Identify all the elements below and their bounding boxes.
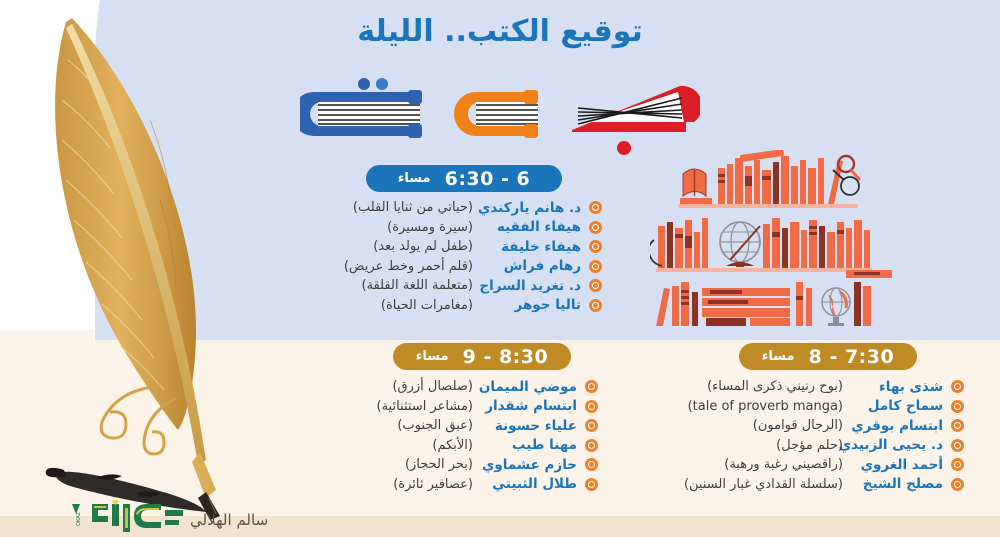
author-name: علياء حسونة <box>481 418 577 434</box>
list-item: رهام فراش (قلم أحمر وخط عريض) <box>344 257 602 277</box>
list-item: د. هانم ياركندي (حياتي من ثنايا القلب) <box>344 198 602 218</box>
designer-credit: سالم الهلالي <box>190 511 268 529</box>
book-title: (بحر الحجاز) <box>405 457 473 472</box>
book-title: (tale of proverb manga) <box>688 399 843 414</box>
author-name: أحمد الغروي <box>851 457 943 473</box>
author-name: شذى بهاء <box>851 379 943 395</box>
author-name: مصلح الشيخ <box>851 476 943 492</box>
author-name: د. هانم ياركندي <box>481 200 581 216</box>
list-item: طلال الثبيتي (عصافير ثائرة) <box>377 475 598 495</box>
author-name: د. يحيى الزبيدي <box>851 437 943 453</box>
list-item: د. يحيى الزبيدي (حلم مؤجل) <box>684 436 964 456</box>
author-name: مهنا طيب <box>481 437 577 453</box>
badge-period: مساء <box>416 349 449 364</box>
bullet-icon <box>585 419 598 432</box>
bullet-icon <box>951 400 964 413</box>
list-item: ابتسام شقدار (مشاعر استثنائية) <box>377 397 598 417</box>
bullet-icon <box>589 221 602 234</box>
list-item: هيفاء الفقيه (سيرة ومسيرة) <box>344 218 602 238</box>
time-badge-session-1: 6 - 6:30 مساء <box>366 165 562 192</box>
badge-time: 8:30 - 9 <box>463 346 549 368</box>
logo-sub-text: OKAZ <box>76 511 82 526</box>
infographic-root: توقيع الكتب.. الليلة <box>0 0 1000 537</box>
badge-period: مساء <box>398 171 431 186</box>
bullet-icon <box>951 419 964 432</box>
list-item: مصلح الشيخ (سلسلة القدادي غبار السنين) <box>684 475 964 495</box>
bullet-icon <box>585 478 598 491</box>
badge-time: 7:30 - 8 <box>809 346 895 368</box>
session-list-1: د. هانم ياركندي (حياتي من ثنايا القلب) ه… <box>344 198 602 315</box>
book-title: (راقصيني رغبة ورهبة) <box>724 457 843 472</box>
book-title: (عبق الجنوب) <box>397 418 473 433</box>
book-title: (الأبكم) <box>432 438 473 453</box>
time-badge-session-2: 8:30 - 9 مساء <box>393 343 571 370</box>
list-item: مهنا طيب (الأبكم) <box>377 436 598 456</box>
book-title: (حلم مؤجل) <box>776 438 843 453</box>
book-title: (صلصال أزرق) <box>392 379 473 394</box>
badge-time: 6 - 6:30 <box>445 168 531 190</box>
author-name: موضي الميمان <box>481 379 577 395</box>
bullet-icon <box>951 458 964 471</box>
book-title: (طفل لم يولد بعد) <box>373 239 473 254</box>
author-name: طلال الثبيتي <box>481 476 577 492</box>
bullet-icon <box>585 439 598 452</box>
bullet-icon <box>585 400 598 413</box>
book-title: (مغامرات الحياة) <box>381 298 473 313</box>
list-item: أحمد الغروي (راقصيني رغبة ورهبة) <box>684 455 964 475</box>
bullet-icon <box>589 201 602 214</box>
bullet-icon <box>585 458 598 471</box>
session-list-3: شذى بهاء (بوح رنيني ذكرى المساء) سماح كا… <box>684 377 964 494</box>
bullet-icon <box>589 240 602 253</box>
bullet-icon <box>589 299 602 312</box>
quill-feather-illustration <box>10 0 250 520</box>
author-name: رهام فراش <box>481 258 581 274</box>
author-name: ابتسام بوقري <box>851 418 943 434</box>
session-list-2: موضي الميمان (صلصال أزرق) ابتسام شقدار (… <box>377 377 598 494</box>
list-item: موضي الميمان (صلصال أزرق) <box>377 377 598 397</box>
author-name: هيفاء الفقيه <box>481 219 581 235</box>
book-title: (سيرة ومسيرة) <box>387 220 473 235</box>
book-title: (مشاعر استثنائية) <box>377 399 473 414</box>
list-item: ابتسام بوقري (الرجال قوامون) <box>684 416 964 436</box>
bullet-icon <box>589 279 602 292</box>
list-item: شذى بهاء (بوح رنيني ذكرى المساء) <box>684 377 964 397</box>
book-title: (عصافير ثائرة) <box>393 477 473 492</box>
okaz-logo: OKAZ <box>68 500 186 537</box>
list-item: د. تغريد السراج (متعلمة اللغة القلقة) <box>344 276 602 296</box>
book-title: (الرجال قوامون) <box>753 418 843 433</box>
book-title: (حياتي من ثنايا القلب) <box>353 200 473 215</box>
author-name: د. تغريد السراج <box>481 278 581 294</box>
bullet-icon <box>951 380 964 393</box>
bullet-icon <box>589 260 602 273</box>
book-title: (بوح رنيني ذكرى المساء) <box>707 379 843 394</box>
author-name: هيفاء خليفة <box>481 239 581 255</box>
list-item: حازم عشماوي (بحر الحجاز) <box>377 455 598 475</box>
author-name: تاليا جوهر <box>481 297 581 313</box>
time-badge-session-3: 7:30 - 8 مساء <box>739 343 917 370</box>
list-item: تاليا جوهر (مغامرات الحياة) <box>344 296 602 316</box>
bookshelf-illustration <box>650 150 900 330</box>
list-item: هيفاء خليفة (طفل لم يولد بعد) <box>344 237 602 257</box>
author-name: سماح كامل <box>851 398 943 414</box>
bullet-icon <box>951 478 964 491</box>
author-name: حازم عشماوي <box>481 457 577 473</box>
badge-period: مساء <box>762 349 795 364</box>
list-item: علياء حسونة (عبق الجنوب) <box>377 416 598 436</box>
book-title: (متعلمة اللغة القلقة) <box>362 278 473 293</box>
book-title: (قلم أحمر وخط عريض) <box>344 259 473 274</box>
book-title: (سلسلة القدادي غبار السنين) <box>684 477 843 492</box>
stacked-books-letters-illustration <box>300 78 700 156</box>
bullet-icon <box>951 439 964 452</box>
author-name: ابتسام شقدار <box>481 398 577 414</box>
list-item: سماح كامل (tale of proverb manga) <box>684 397 964 417</box>
bullet-icon <box>585 380 598 393</box>
